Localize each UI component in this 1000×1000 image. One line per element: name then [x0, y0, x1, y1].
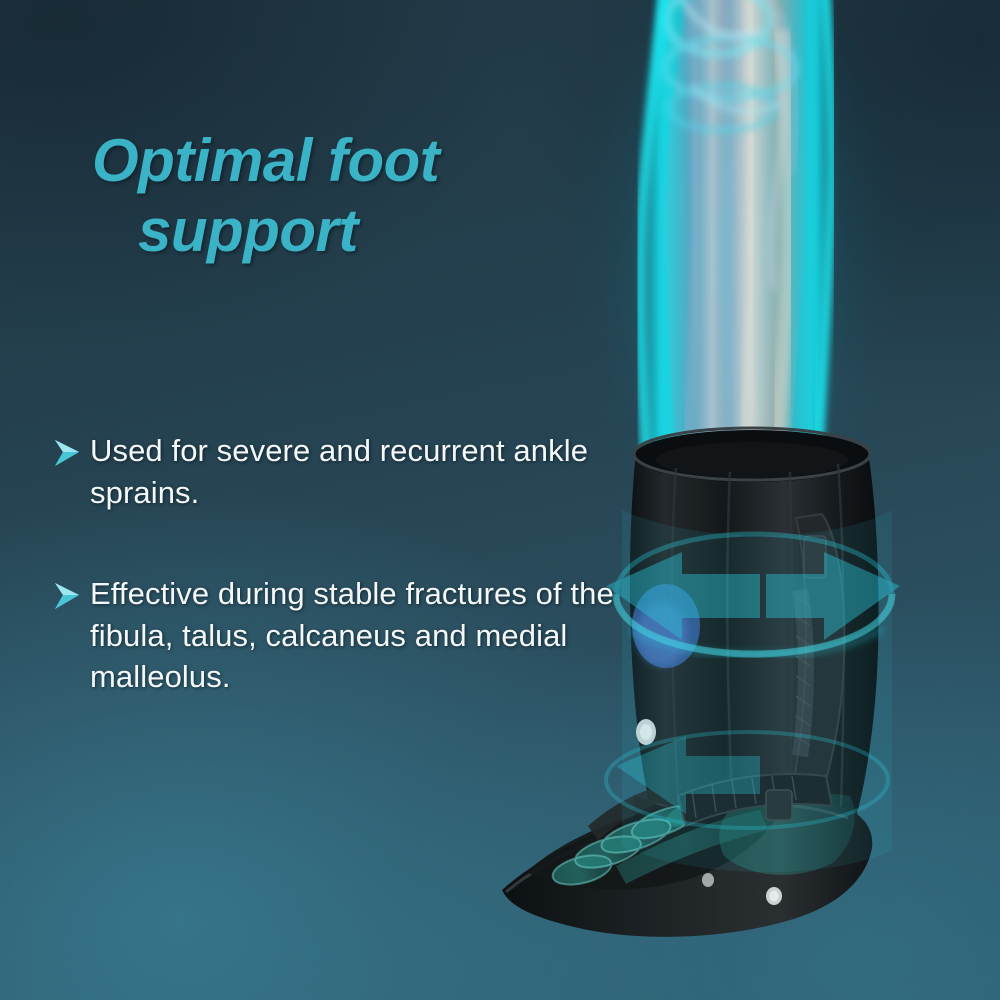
chevron-arrow-marker-icon	[52, 436, 82, 470]
chevron-arrow-marker-icon	[52, 579, 82, 613]
headline-line-2: support	[138, 196, 652, 266]
headline: Optimal foot support	[92, 126, 652, 265]
feature-bullet-list: Used for severe and recurrent ankle spra…	[52, 430, 662, 698]
xray-leg-group	[638, 0, 832, 472]
product-marketing-poster: Optimal foot support Used for severe and…	[0, 0, 1000, 1000]
headline-line-1: Optimal foot	[92, 126, 652, 196]
compression-overlay-plane	[622, 510, 892, 872]
leg-anatomy	[664, 0, 806, 472]
list-item: Effective during stable fractures of the…	[52, 573, 662, 698]
list-item-label: Effective during stable fractures of the…	[90, 573, 662, 698]
list-item: Used for severe and recurrent ankle spra…	[52, 430, 662, 513]
list-item-label: Used for severe and recurrent ankle spra…	[90, 430, 662, 513]
